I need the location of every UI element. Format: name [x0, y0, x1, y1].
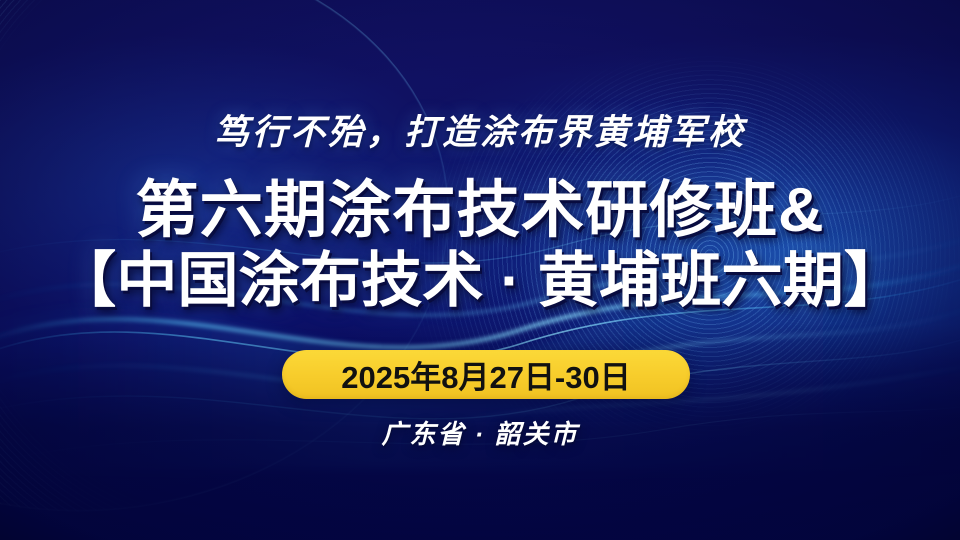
title-line-secondary: 【中国涂布技术 · 黄埔班六期】 [0, 246, 960, 316]
poster-title: 第六期涂布技术研修班& 【中国涂布技术 · 黄埔班六期】 [0, 176, 960, 316]
event-poster: 笃行不殆，打造涂布界黄埔军校 第六期涂布技术研修班& 【中国涂布技术 · 黄埔班… [0, 0, 960, 540]
event-location: 广东省 · 韶关市 [0, 414, 960, 451]
poster-content: 笃行不殆，打造涂布界黄埔军校 第六期涂布技术研修班& 【中国涂布技术 · 黄埔班… [0, 0, 960, 540]
event-date-badge: 2025年8月27日-30日 [282, 350, 690, 399]
poster-tagline: 笃行不殆，打造涂布界黄埔军校 [0, 104, 960, 155]
title-line-primary: 第六期涂布技术研修班& [0, 176, 960, 246]
